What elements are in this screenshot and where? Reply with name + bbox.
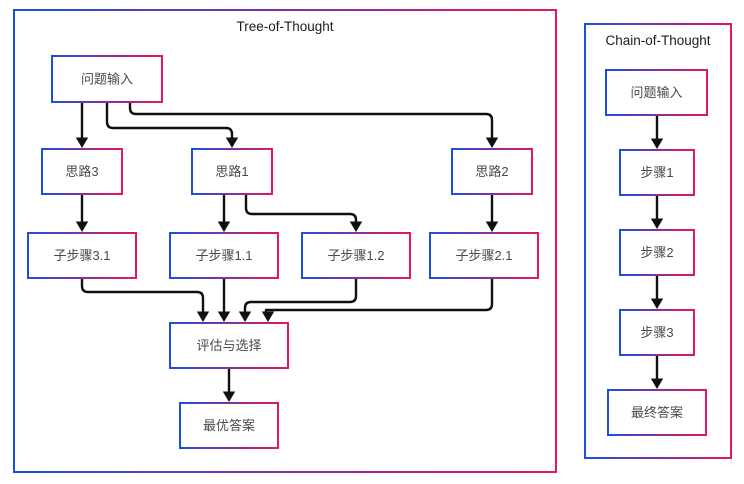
- node-tot-eval[interactable]: 评估与选择: [170, 323, 288, 368]
- node-cot-step1[interactable]: 步骤1: [620, 150, 694, 195]
- node-tot-path3[interactable]: 思路3: [42, 149, 122, 194]
- node-tot-sub31[interactable]: 子步骤3.1: [28, 233, 136, 278]
- node-label-tot-input: 问题输入: [81, 71, 133, 86]
- node-label-tot-sub21: 子步骤2.1: [455, 248, 512, 263]
- node-label-cot-final: 最终答案: [631, 405, 683, 420]
- node-label-tot-path3: 思路3: [65, 164, 98, 179]
- node-cot-final[interactable]: 最终答案: [608, 390, 706, 435]
- node-label-tot-sub11: 子步骤1.1: [195, 248, 252, 263]
- node-label-tot-best: 最优答案: [203, 418, 255, 433]
- flowchart-svg: Tree-of-ThoughtChain-of-Thought 问题输入思路3思…: [0, 0, 744, 484]
- node-tot-input[interactable]: 问题输入: [52, 56, 162, 102]
- panel-title-tot: Tree-of-Thought: [236, 19, 333, 34]
- node-label-tot-sub12: 子步骤1.2: [327, 248, 384, 263]
- node-tot-best[interactable]: 最优答案: [180, 403, 278, 448]
- node-label-tot-sub31: 子步骤3.1: [53, 248, 110, 263]
- node-label-cot-input: 问题输入: [630, 85, 682, 100]
- node-label-tot-path2: 思路2: [475, 164, 508, 179]
- node-tot-path2[interactable]: 思路2: [452, 149, 532, 194]
- node-tot-sub12[interactable]: 子步骤1.2: [302, 233, 410, 278]
- node-label-cot-step3: 步骤3: [640, 325, 673, 340]
- node-tot-sub11[interactable]: 子步骤1.1: [170, 233, 278, 278]
- node-label-cot-step2: 步骤2: [640, 245, 673, 260]
- panel-title-cot: Chain-of-Thought: [605, 33, 710, 48]
- node-label-cot-step1: 步骤1: [640, 165, 673, 180]
- node-cot-step3[interactable]: 步骤3: [620, 310, 694, 355]
- diagram-canvas: Tree-of-ThoughtChain-of-Thought 问题输入思路3思…: [0, 0, 744, 484]
- node-cot-step2[interactable]: 步骤2: [620, 230, 694, 275]
- node-label-tot-path1: 思路1: [215, 164, 248, 179]
- node-tot-path1[interactable]: 思路1: [192, 149, 272, 194]
- node-label-tot-eval: 评估与选择: [196, 338, 261, 353]
- node-cot-input[interactable]: 问题输入: [606, 70, 707, 115]
- node-tot-sub21[interactable]: 子步骤2.1: [430, 233, 538, 278]
